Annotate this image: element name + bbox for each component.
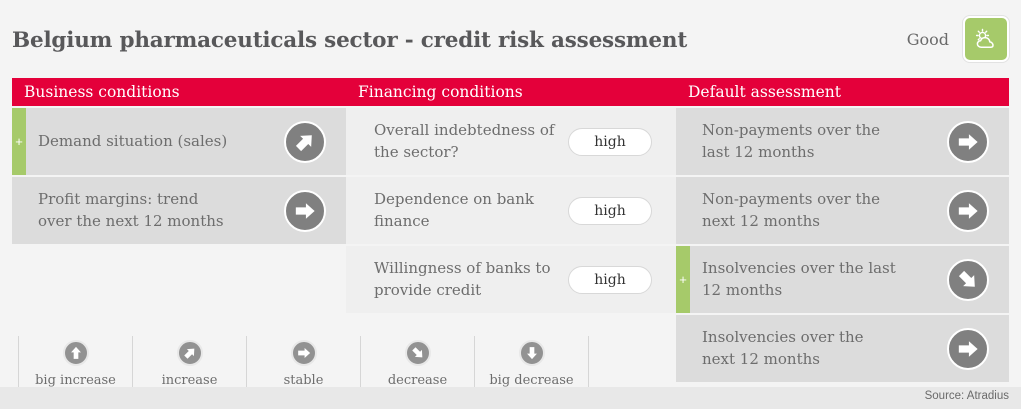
arrow-up-right-icon xyxy=(294,131,316,153)
legend-item-decrease: decrease xyxy=(361,336,475,390)
column-business-conditions: Business conditions + Demand situation (… xyxy=(12,78,346,246)
legend-item-big-increase: big increase xyxy=(18,336,133,390)
row-label: Dependence on bank finance xyxy=(374,189,568,232)
rows-business-conditions: + Demand situation (sales) xyxy=(12,108,346,244)
legend-circle xyxy=(291,340,317,366)
rating-label: Good xyxy=(907,30,949,49)
legend-item-increase: increase xyxy=(133,336,247,390)
indicator-circle xyxy=(284,121,326,163)
table-row[interactable]: + Insolvencies over the last 12 months xyxy=(676,246,1009,313)
row-label: Non-payments over the next 12 months xyxy=(702,189,898,232)
arrow-down-right-icon xyxy=(411,346,425,360)
indicator-circle xyxy=(947,190,989,232)
table-row[interactable]: Insolvencies over the next 12 months xyxy=(676,315,1009,382)
positive-marker xyxy=(676,177,690,244)
status-badge: high xyxy=(568,266,652,294)
legend-label: stable xyxy=(284,373,324,388)
indicator-circle xyxy=(284,190,326,232)
overall-rating: Good xyxy=(907,16,1009,62)
credit-risk-assessment-page: Belgium pharmaceuticals sector - credit … xyxy=(0,0,1021,409)
indicator-circle xyxy=(947,121,989,163)
arrow-down-right-icon xyxy=(957,269,979,291)
column-header-financing-conditions: Financing conditions xyxy=(346,78,676,106)
positive-marker xyxy=(676,108,690,175)
table-row[interactable]: Overall indebtedness of the sector? high xyxy=(346,108,676,175)
arrow-right-icon xyxy=(957,338,979,360)
legend-label: increase xyxy=(162,373,218,388)
rating-badge xyxy=(963,16,1009,62)
sun-behind-cloud-icon xyxy=(973,28,999,50)
rows-default-assessment: Non-payments over the last 12 months Non… xyxy=(676,108,1009,382)
row-label: Demand situation (sales) xyxy=(38,131,234,152)
indicator-circle xyxy=(947,259,989,301)
page-title: Belgium pharmaceuticals sector - credit … xyxy=(12,28,687,53)
legend-item-stable: stable xyxy=(247,336,361,390)
table-row[interactable]: Non-payments over the next 12 months xyxy=(676,177,1009,244)
arrow-up-icon xyxy=(69,346,83,360)
positive-marker xyxy=(346,246,360,313)
arrow-up-right-icon xyxy=(183,346,197,360)
arrow-down-icon xyxy=(525,346,539,360)
indicator-stable xyxy=(947,328,989,370)
indicator-stable xyxy=(947,190,989,232)
positive-marker: + xyxy=(12,108,26,175)
legend: big increase increase stable xyxy=(18,336,589,390)
row-label: Overall indebtedness of the sector? xyxy=(374,120,568,163)
legend-circle xyxy=(405,340,431,366)
row-label: Profit margins: trend over the next 12 m… xyxy=(38,189,234,232)
title-bar: Belgium pharmaceuticals sector - credit … xyxy=(0,0,1021,78)
legend-circle xyxy=(519,340,545,366)
legend-circle xyxy=(63,340,89,366)
table-row[interactable]: Dependence on bank finance high xyxy=(346,177,676,244)
table-row[interactable]: Profit margins: trend over the next 12 m… xyxy=(12,177,346,244)
row-label: Non-payments over the last 12 months xyxy=(702,120,898,163)
indicator-stable xyxy=(947,121,989,163)
indicator-increase xyxy=(284,121,326,163)
footer: Source: Atradius xyxy=(0,387,1021,409)
column-header-business-conditions: Business conditions xyxy=(12,78,346,106)
legend-label: big increase xyxy=(35,373,116,388)
legend-item-big-decrease: big decrease xyxy=(475,336,589,390)
row-label: Insolvencies over the last 12 months xyxy=(702,258,898,301)
status-badge: high xyxy=(568,128,652,156)
positive-marker xyxy=(346,177,360,244)
rows-financing-conditions: Overall indebtedness of the sector? high… xyxy=(346,108,676,313)
legend-label: decrease xyxy=(388,373,447,388)
positive-marker xyxy=(12,177,26,244)
table-row[interactable]: + Demand situation (sales) xyxy=(12,108,346,175)
row-label: Insolvencies over the next 12 months xyxy=(702,327,898,370)
source-attribution: Source: Atradius xyxy=(925,390,1009,402)
positive-marker xyxy=(676,315,690,382)
indicator-circle xyxy=(947,328,989,370)
table-row[interactable]: Willingness of banks to provide credit h… xyxy=(346,246,676,313)
column-financing-conditions: Financing conditions Overall indebtednes… xyxy=(346,78,676,315)
positive-marker: + xyxy=(676,246,690,313)
arrow-right-icon xyxy=(297,346,311,360)
column-default-assessment: Default assessment Non-payments over the… xyxy=(676,78,1009,384)
arrow-right-icon xyxy=(294,200,316,222)
indicator-decrease xyxy=(947,259,989,301)
row-label: Willingness of banks to provide credit xyxy=(374,258,568,301)
indicator-stable xyxy=(284,190,326,232)
column-header-default-assessment: Default assessment xyxy=(676,78,1009,106)
positive-marker xyxy=(346,108,360,175)
table-row[interactable]: Non-payments over the last 12 months xyxy=(676,108,1009,175)
legend-circle xyxy=(177,340,203,366)
arrow-right-icon xyxy=(957,200,979,222)
status-badge: high xyxy=(568,197,652,225)
legend-label: big decrease xyxy=(489,373,573,388)
arrow-right-icon xyxy=(957,131,979,153)
